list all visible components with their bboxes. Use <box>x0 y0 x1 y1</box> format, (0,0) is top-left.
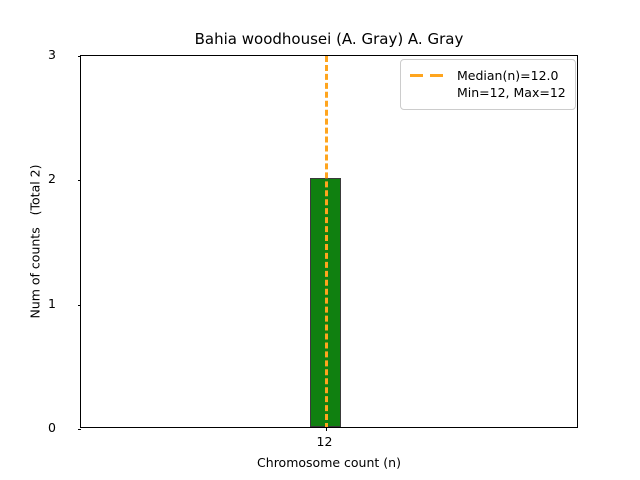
x-axis-label: Chromosome count (n) <box>80 455 578 470</box>
plot-area <box>80 55 578 428</box>
ytick-mark-2 <box>78 180 82 181</box>
legend-label-group: Median(n)=12.0 Min=12, Max=12 <box>457 67 566 101</box>
ytick-label-3: 3 <box>32 49 56 62</box>
chart-title: Bahia woodhousei (A. Gray) A. Gray <box>80 30 578 48</box>
xtick-mark-12 <box>326 427 327 431</box>
xtick-label-12: 12 <box>305 436 345 449</box>
chart-figure: Bahia woodhousei (A. Gray) A. Gray 0 1 2… <box>0 0 640 480</box>
median-line <box>325 56 328 427</box>
legend-entry-median: Median(n)=12.0 Min=12, Max=12 <box>410 67 566 101</box>
legend-label-minmax: Min=12, Max=12 <box>457 84 566 101</box>
y-axis-label: Num of counts (Total 2) <box>28 22 43 462</box>
ytick-mark-0 <box>78 429 82 430</box>
legend-label-median: Median(n)=12.0 <box>457 67 566 84</box>
plot-inner <box>81 56 577 427</box>
ytick-mark-3 <box>78 56 82 57</box>
dashed-line-icon <box>410 67 446 83</box>
ytick-label-0: 0 <box>32 422 56 435</box>
ytick-label-2: 2 <box>32 173 56 186</box>
ytick-mark-1 <box>78 305 82 306</box>
ytick-label-1: 1 <box>32 298 56 311</box>
legend: Median(n)=12.0 Min=12, Max=12 <box>400 59 576 110</box>
